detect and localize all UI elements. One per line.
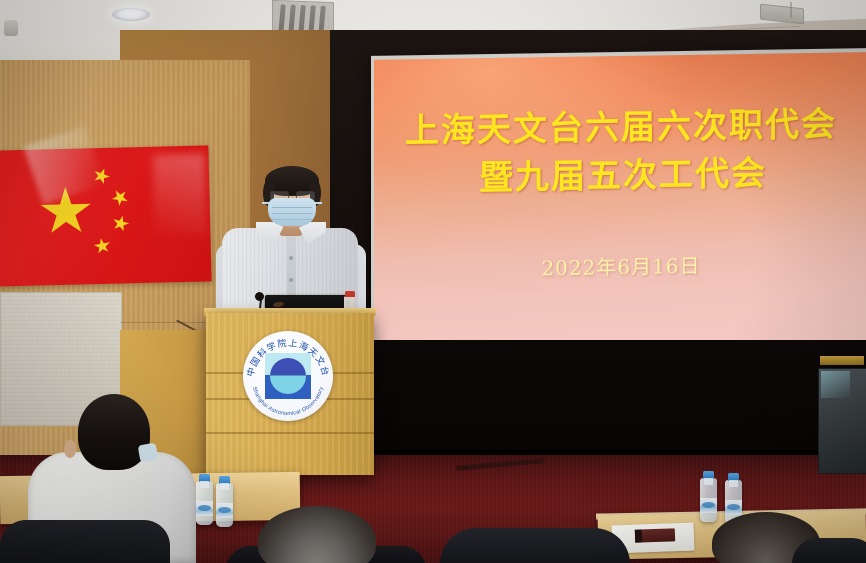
chair-back [440, 528, 630, 563]
notebook [635, 528, 675, 542]
flag-small-star-icon [93, 237, 112, 256]
equipment-trim [820, 356, 864, 365]
slide-title: 上海天文台六届六次职代会 暨九届五次工代会 [374, 100, 866, 204]
equipment-reflection [821, 371, 850, 398]
chinese-national-flag [0, 145, 212, 286]
slide-title-line1: 上海天文台六届六次职代会 [374, 100, 866, 156]
slide-date: 2022年6月16日 [374, 247, 866, 284]
flag-small-star-icon [108, 186, 131, 209]
glasses-bridge-icon [287, 195, 296, 196]
conference-photo: 上海天文台六届六次职代会 暨九届五次工代会 2022年6月16日 [0, 0, 866, 563]
water-bottle [196, 481, 213, 525]
projection-screen: 上海天文台六届六次职代会 暨九届五次工代会 2022年6月16日 [374, 52, 866, 354]
shirt-button [289, 256, 293, 260]
bottle-neck [729, 480, 738, 487]
downlight-icon [112, 8, 150, 21]
audience-mask-icon [138, 443, 159, 463]
bottle-neck [200, 481, 209, 488]
stage-equipment-panel [818, 368, 866, 474]
chair-back [792, 538, 866, 563]
water-bottle [700, 478, 717, 522]
fire-sprinkler-icon [4, 20, 18, 36]
flag-small-star-icon [110, 214, 130, 234]
shirt-button [289, 278, 293, 282]
water-bottle [216, 483, 233, 527]
emblem-circle-motif [270, 358, 306, 394]
observatory-emblem: 中国科学院上海天文台 Shanghai Astronomical Observa… [243, 331, 333, 421]
bottle-neck [220, 483, 229, 490]
podium-groove [206, 432, 374, 434]
bottle-label [725, 500, 742, 515]
audience-ear [64, 440, 76, 458]
bottle-label [196, 501, 213, 516]
bottle-cap-icon [345, 291, 355, 297]
bottle-label [216, 503, 233, 518]
flag-highlight [152, 154, 206, 237]
chair-back [0, 520, 170, 563]
laptop-logo-icon [273, 301, 285, 307]
microphone-head-icon [255, 292, 264, 301]
face-mask-icon [268, 198, 316, 226]
bottle-neck [704, 478, 713, 485]
bottle-label [700, 498, 717, 513]
ceiling-wire [790, 2, 792, 18]
slide-title-line2: 暨九届五次工代会 [374, 148, 866, 204]
